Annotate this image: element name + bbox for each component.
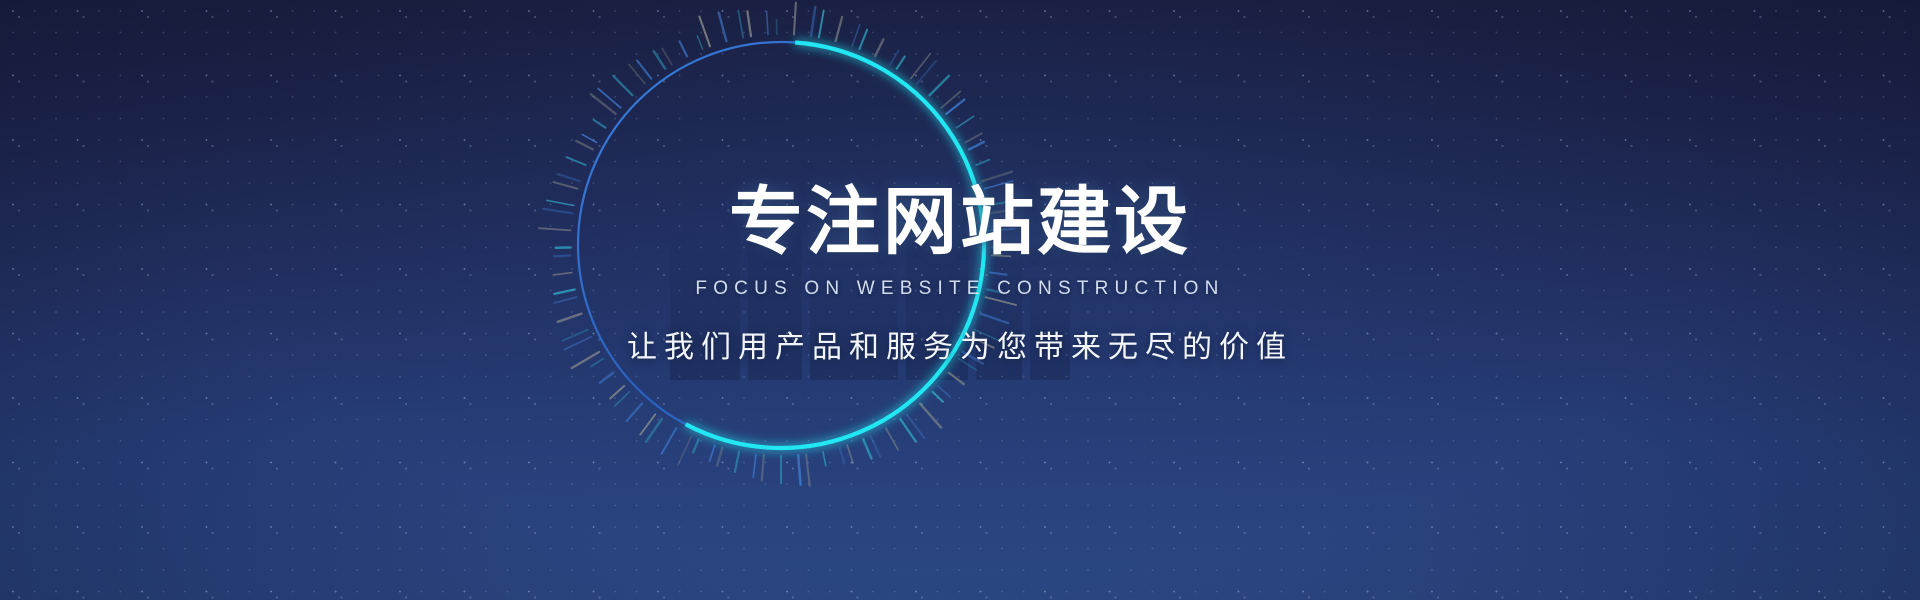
hero-text-block: 专注网站建设 FOCUS ON WEBSITE CONSTRUCTION 让我们…: [0, 0, 1920, 600]
tagline-chinese: 让我们用产品和服务为您带来无尽的价值: [627, 322, 1293, 366]
page-title: 专注网站建设: [729, 185, 1191, 259]
hero-banner: 专注网站建设 FOCUS ON WEBSITE CONSTRUCTION 让我们…: [0, 0, 1920, 600]
subtitle-english: FOCUS ON WEBSITE CONSTRUCTION: [695, 278, 1224, 300]
